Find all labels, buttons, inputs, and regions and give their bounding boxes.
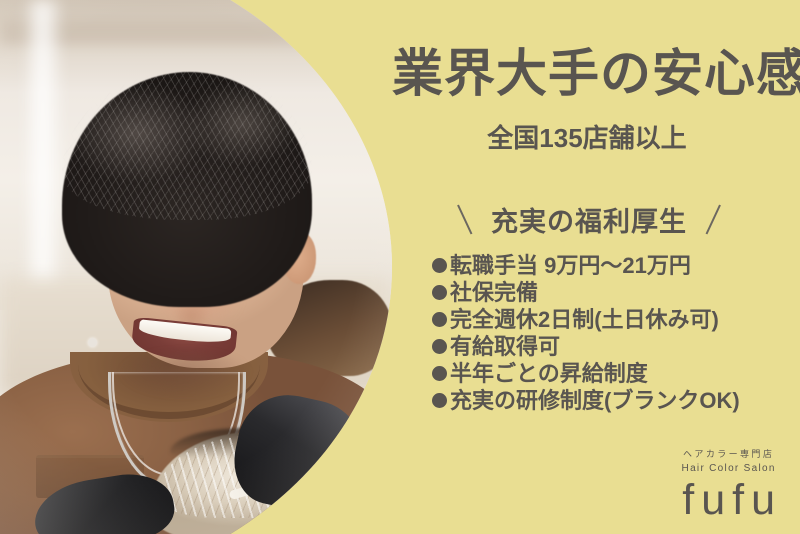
- salon-background-pillar: [26, 0, 60, 300]
- list-item: 充実の研修制度(ブランクOK): [432, 390, 740, 417]
- benefit-text: 転職手当 9万円〜21万円: [450, 255, 691, 277]
- headline: 業界大手の安心感: [392, 48, 782, 99]
- logo-japanese-tagline: ヘアカラー専門店: [675, 448, 782, 461]
- benefit-text: 社保完備: [450, 282, 538, 304]
- bullet-icon: [432, 339, 447, 354]
- benefit-text: 完全週休2日制(土日休み可): [450, 309, 719, 331]
- hero-photo: [0, 0, 392, 534]
- bullet-icon: [432, 285, 447, 300]
- recruitment-banner: 業界大手の安心感 全国135店舗以上 充実の福利厚生 転職手当 9万円〜21万円…: [0, 0, 800, 534]
- list-item: 有給取得可: [432, 336, 740, 363]
- logo-english-tagline: Hair Color Salon: [675, 461, 782, 476]
- bullet-icon: [432, 258, 447, 273]
- stylist-chin-shadow: [120, 352, 250, 396]
- slash-right-icon: [705, 205, 735, 235]
- list-item: 完全週休2日制(土日休み可): [432, 309, 740, 336]
- subheadline: 全国135店舗以上: [392, 123, 782, 154]
- benefits-list: 転職手当 9万円〜21万円 社保完備 完全週休2日制(土日休み可) 有給取得可 …: [432, 255, 740, 417]
- bullet-icon: [432, 393, 447, 408]
- list-item: 転職手当 9万円〜21万円: [432, 255, 740, 282]
- benefit-text: 半年ごとの昇給制度: [450, 363, 648, 385]
- stylist-earring: [88, 338, 97, 347]
- benefits-heading-label: 充実の福利厚生: [491, 200, 687, 239]
- content-column: 業界大手の安心感 全国135店舗以上 充実の福利厚生 転職手当 9万円〜21万円…: [392, 0, 800, 534]
- list-item: 社保完備: [432, 282, 740, 309]
- logo-wordmark: fufu: [675, 479, 782, 522]
- hero-photo-image: [0, 0, 392, 534]
- benefit-text: 充実の研修制度(ブランクOK): [450, 390, 740, 412]
- bullet-icon: [432, 366, 447, 381]
- benefit-text: 有給取得可: [450, 336, 560, 358]
- slash-left-icon: [443, 205, 473, 235]
- list-item: 半年ごとの昇給制度: [432, 363, 740, 390]
- brand-logo: ヘアカラー専門店 Hair Color Salon fufu: [675, 448, 782, 522]
- bullet-icon: [432, 312, 447, 327]
- benefits-heading: 充実の福利厚生: [392, 200, 786, 239]
